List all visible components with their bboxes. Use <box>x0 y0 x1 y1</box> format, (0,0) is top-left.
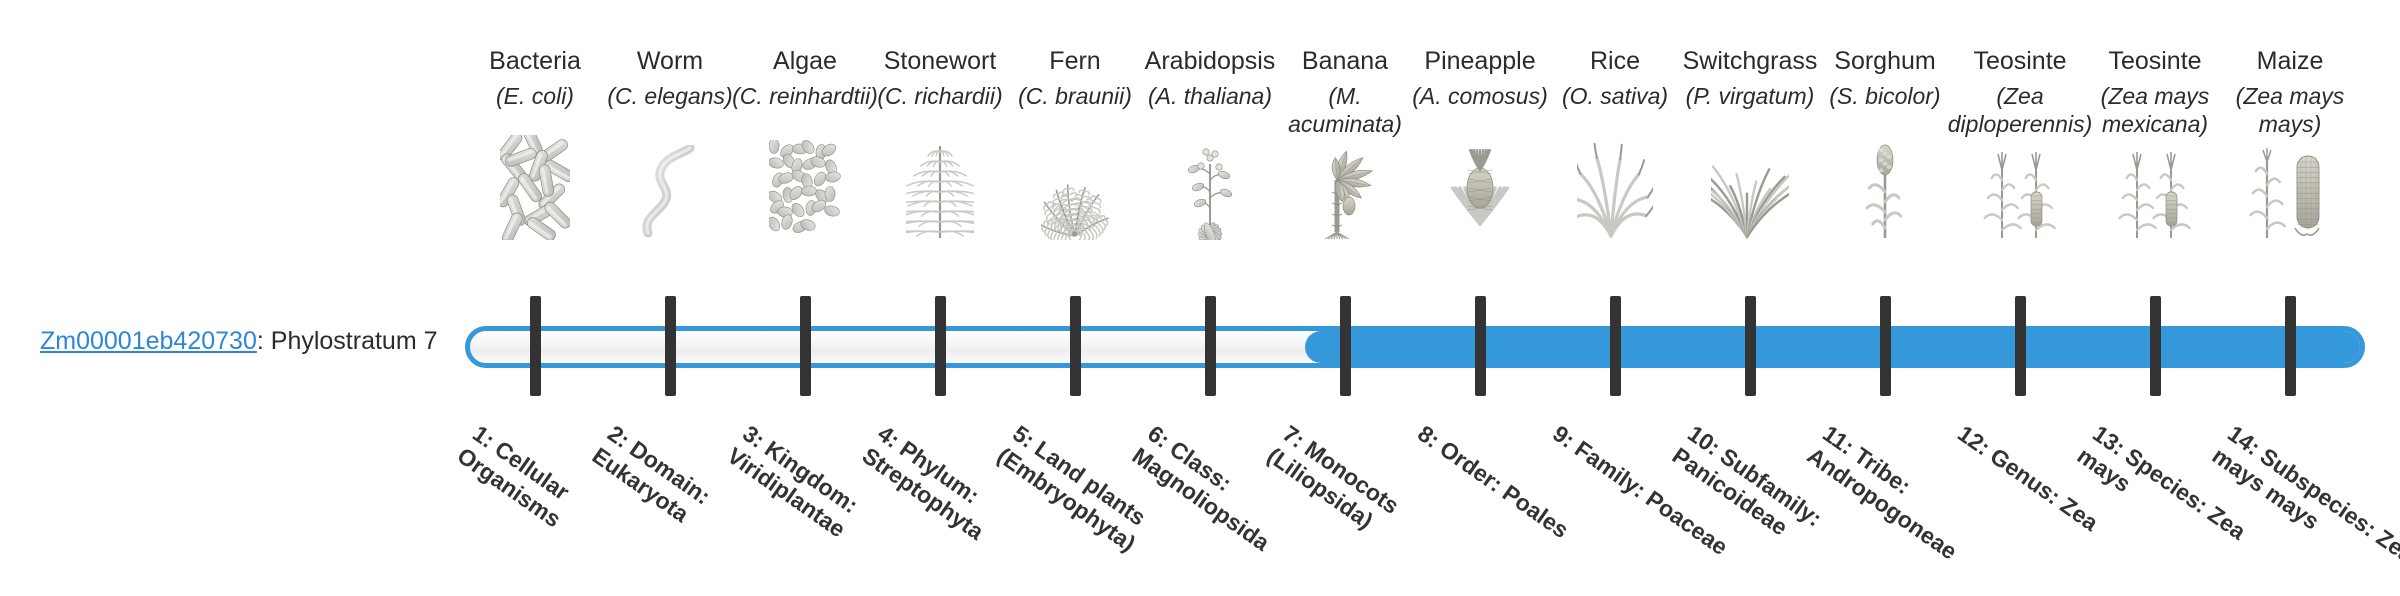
phylostratum-bar-fill <box>1305 331 2365 363</box>
organism-common-name: Teosinte <box>1945 46 2095 76</box>
organism-common-name: Stonewort <box>865 46 1015 76</box>
tick-mark-level-11[interactable] <box>1880 296 1891 396</box>
organism-common-name: Algae <box>730 46 880 76</box>
organism-column-teosinte-13: Teosinte(Zea mays mexicana) <box>2080 46 2230 240</box>
tick-mark-level-4[interactable] <box>935 296 946 396</box>
stonewort-illustration <box>865 140 1015 240</box>
organism-latin-name: (M. acuminata) <box>1270 82 1420 138</box>
organism-column-pineapple-8: Pineapple(A. comosus) <box>1405 46 1555 240</box>
tick-mark-level-13[interactable] <box>2150 296 2161 396</box>
organism-common-name: Fern <box>1000 46 1150 76</box>
banana-illustration <box>1270 140 1420 240</box>
organism-column-teosinte-12: Teosinte(Zea diploperennis) <box>1945 46 2095 240</box>
rice-illustration <box>1540 140 1690 240</box>
organism-latin-name: (E. coli) <box>460 82 610 138</box>
tick-mark-level-2[interactable] <box>665 296 676 396</box>
organism-latin-name: (O. sativa) <box>1540 82 1690 138</box>
organism-column-banana-7: Banana(M. acuminata) <box>1270 46 1420 240</box>
organism-column-switchgrass-10: Switchgrass(P. virgatum) <box>1675 46 1825 240</box>
pineapple-illustration <box>1405 140 1555 240</box>
tick-mark-level-3[interactable] <box>800 296 811 396</box>
organism-column-stonewort-4: Stonewort(C. richardii) <box>865 46 1015 240</box>
organism-column-arabidopsis-6: Arabidopsis(A. thaliana) <box>1135 46 1285 240</box>
organism-latin-name: (C. reinhardtii) <box>730 82 880 138</box>
organism-latin-name: (P. virgatum) <box>1675 82 1825 138</box>
phylostratum-timeline-figure: Zm00001eb420730: Phylostratum 7 Bacteria… <box>0 0 2400 580</box>
organism-column-sorghum-11: Sorghum(S. bicolor) <box>1810 46 1960 240</box>
organism-latin-name: (C. richardii) <box>865 82 1015 138</box>
organism-latin-name: (A. comosus) <box>1405 82 1555 138</box>
switchgrass-illustration <box>1675 140 1825 240</box>
organism-common-name: Switchgrass <box>1675 46 1825 76</box>
organism-latin-name: (Zea mays mexicana) <box>2080 82 2230 138</box>
tick-mark-level-1[interactable] <box>530 296 541 396</box>
organism-common-name: Teosinte <box>2080 46 2230 76</box>
organism-latin-name: (C. elegans) <box>595 82 745 138</box>
bacteria-illustration <box>460 140 610 240</box>
organism-latin-name: (Zea diploperennis) <box>1945 82 2095 138</box>
organism-common-name: Rice <box>1540 46 1690 76</box>
organism-latin-name: (Zea mays mays) <box>2215 82 2365 138</box>
teosinte-mexicana-illustration <box>2080 140 2230 240</box>
algae-illustration <box>730 140 880 240</box>
tick-mark-level-9[interactable] <box>1610 296 1621 396</box>
gene-label-separator: : <box>257 327 271 355</box>
organism-column-rice-9: Rice(O. sativa) <box>1540 46 1690 240</box>
worm-illustration <box>595 140 745 240</box>
organism-common-name: Sorghum <box>1810 46 1960 76</box>
organism-column-algae-3: Algae(C. reinhardtii) <box>730 46 880 240</box>
organism-common-name: Maize <box>2215 46 2365 76</box>
phylostratum-value: Phylostratum 7 <box>271 327 438 355</box>
organism-common-name: Pineapple <box>1405 46 1555 76</box>
organism-column-bacteria-1: Bacteria(E. coli) <box>460 46 610 240</box>
phylostratum-bar[interactable] <box>465 326 2365 368</box>
organism-latin-name: (A. thaliana) <box>1135 82 1285 138</box>
gene-accession-link[interactable]: Zm00001eb420730 <box>40 327 257 355</box>
tick-mark-level-5[interactable] <box>1070 296 1081 396</box>
tick-mark-level-6[interactable] <box>1205 296 1216 396</box>
tick-mark-level-14[interactable] <box>2285 296 2296 396</box>
maize-illustration <box>2215 140 2365 240</box>
phylostratum-bar-track <box>465 326 2365 368</box>
organism-common-name: Arabidopsis <box>1135 46 1285 76</box>
tick-mark-level-7[interactable] <box>1340 296 1351 396</box>
organism-latin-name: (C. braunii) <box>1000 82 1150 138</box>
organism-column-maize-14: Maize(Zea mays mays) <box>2215 46 2365 240</box>
arabidopsis-illustration <box>1135 140 1285 240</box>
tick-mark-level-10[interactable] <box>1745 296 1756 396</box>
gene-row-label: Zm00001eb420730: Phylostratum 7 <box>40 326 430 356</box>
organism-latin-name: (S. bicolor) <box>1810 82 1960 138</box>
tick-mark-level-12[interactable] <box>2015 296 2026 396</box>
organism-common-name: Banana <box>1270 46 1420 76</box>
tick-mark-level-8[interactable] <box>1475 296 1486 396</box>
organism-common-name: Worm <box>595 46 745 76</box>
organism-common-name: Bacteria <box>460 46 610 76</box>
organism-column-fern-5: Fern(C. braunii) <box>1000 46 1150 240</box>
sorghum-illustration <box>1810 140 1960 240</box>
fern-illustration <box>1000 140 1150 240</box>
teosinte-diplo-illustration <box>1945 140 2095 240</box>
organism-column-worm-2: Worm(C. elegans) <box>595 46 745 240</box>
